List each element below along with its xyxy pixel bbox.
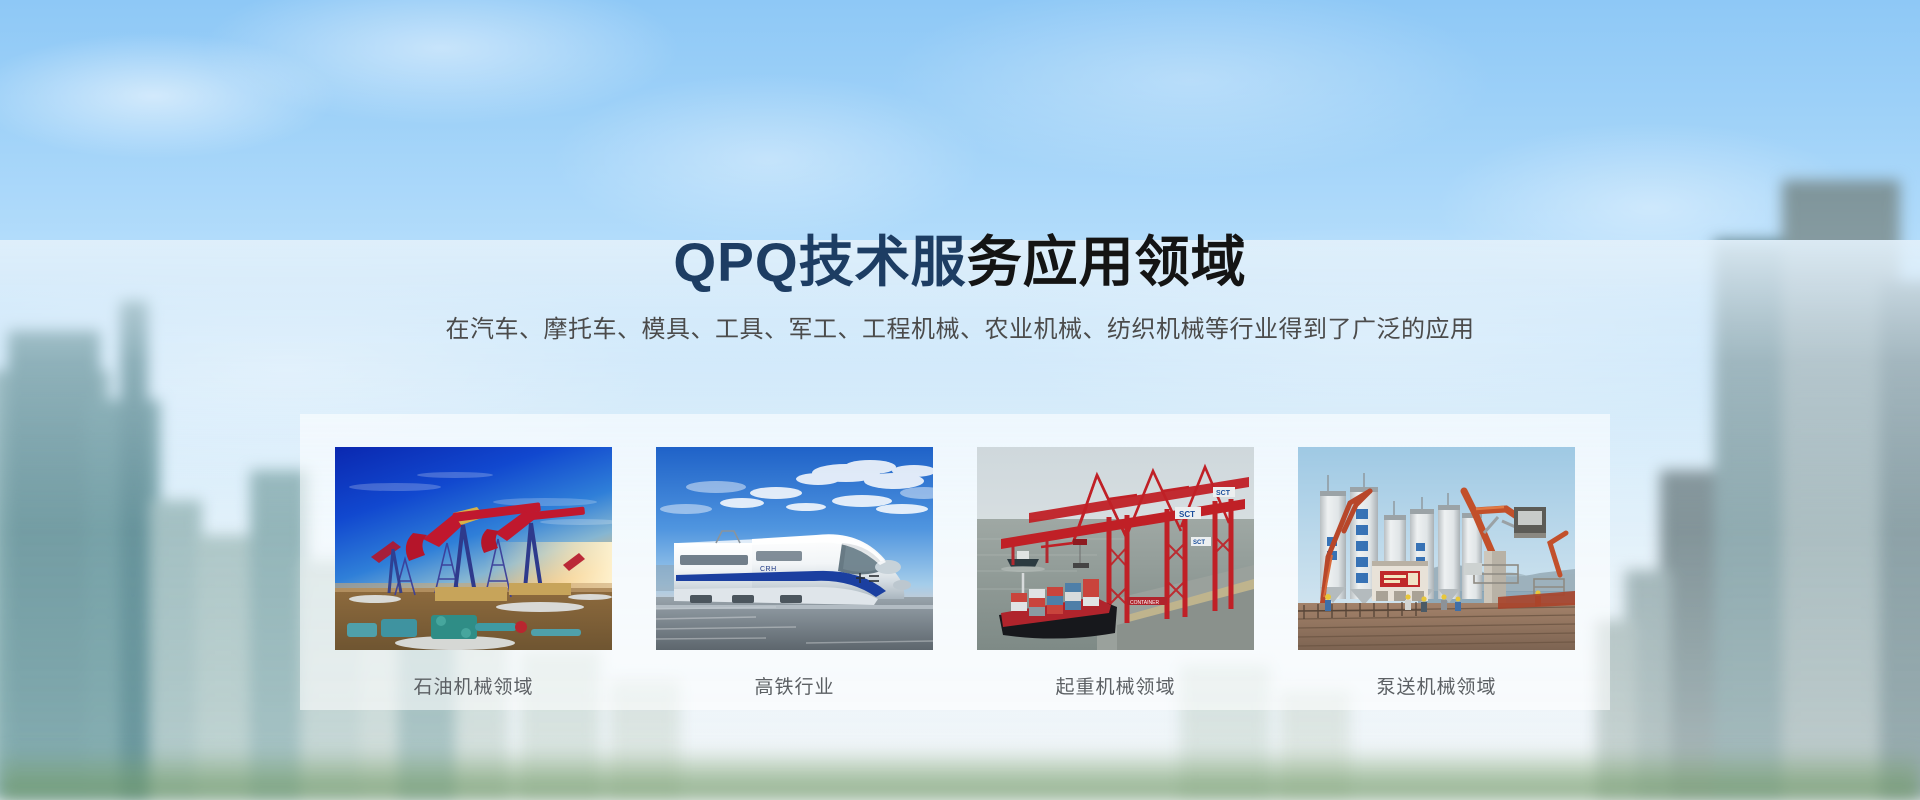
high-speed-train-photo[interactable]: CRH <box>656 447 933 650</box>
applications-panel: 石油机械领域 <box>300 414 1610 710</box>
svg-text:CRH: CRH <box>760 566 777 573</box>
application-card[interactable]: 泵送机械领域 <box>1298 447 1575 699</box>
application-card[interactable]: SCT SCT SCT CONTAINER 起重机械领域 <box>977 447 1254 699</box>
port-gantry-cranes-photo[interactable]: SCT SCT SCT CONTAINER <box>977 447 1254 650</box>
card-label: 起重机械领域 <box>977 672 1254 699</box>
page-title-blue-part: QPQ技术服 <box>673 231 966 293</box>
svg-text:SCT: SCT <box>1193 540 1205 546</box>
svg-text:SCT: SCT <box>1216 490 1231 497</box>
page-title-dark-part: 务应用领域 <box>967 231 1247 293</box>
hero-banner: QPQ技术服务应用领域 在汽车、摩托车、模具、工具、军工、工程机械、农业机械、纺… <box>0 0 1920 800</box>
svg-text:CONTAINER: CONTAINER <box>1130 600 1159 606</box>
page-title: QPQ技术服务应用领域 <box>0 0 1920 290</box>
page-subtitle: 在汽车、摩托车、模具、工具、军工、工程机械、农业机械、纺织机械等行业得到了广泛的… <box>0 290 1920 345</box>
application-card-list: 石油机械领域 <box>335 447 1575 710</box>
hero-heading-block: QPQ技术服务应用领域 在汽车、摩托车、模具、工具、军工、工程机械、农业机械、纺… <box>0 0 1920 345</box>
card-label: 高铁行业 <box>656 672 933 699</box>
oil-pumpjacks-photo[interactable] <box>335 447 612 650</box>
card-label: 石油机械领域 <box>335 672 612 699</box>
application-card[interactable]: CRH <box>656 447 933 699</box>
concrete-pumping-plant-photo[interactable] <box>1298 447 1575 650</box>
application-card[interactable]: 石油机械领域 <box>335 447 612 699</box>
svg-text:SCT: SCT <box>1179 510 1195 519</box>
card-label: 泵送机械领域 <box>1298 672 1575 699</box>
foreground-foliage <box>0 748 1920 800</box>
